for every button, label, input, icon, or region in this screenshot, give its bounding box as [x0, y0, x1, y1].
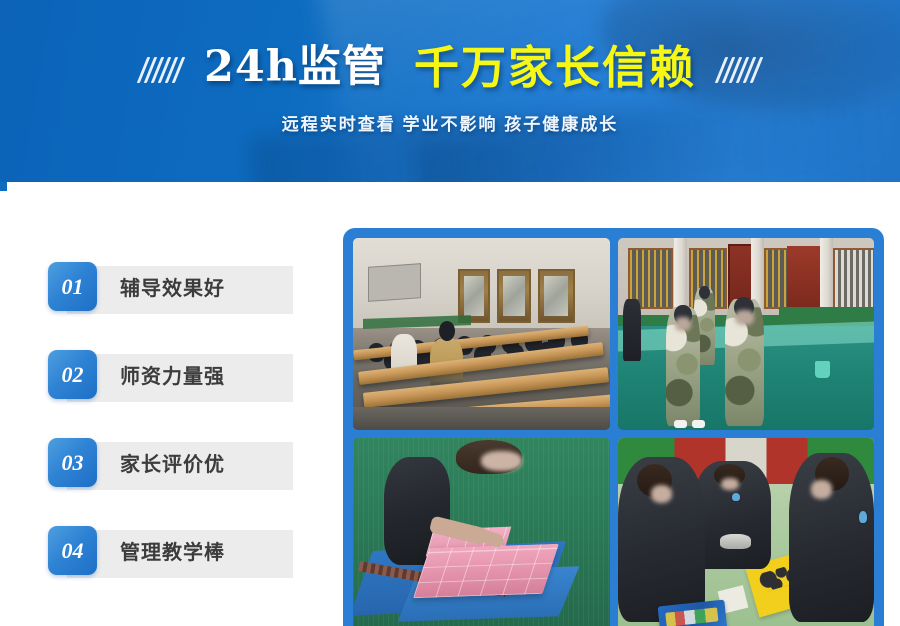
photo-classroom-lecture[interactable] — [353, 238, 610, 430]
feature-number-badge: 02 — [48, 350, 97, 399]
courtyard-staff — [623, 299, 641, 360]
list-item[interactable]: 02 师资力量强 — [48, 350, 293, 406]
quilt-instructor-face-blur — [481, 451, 522, 470]
feature-number-badge: 01 — [48, 262, 97, 311]
list-item[interactable]: 01 辅导效果好 — [48, 262, 293, 318]
promo-page: 24h监管 千万家长信赖 远程实时查看 学业不影响 孩子健康成长 01 辅导效果… — [0, 0, 900, 626]
feature-number: 03 — [62, 450, 84, 476]
photo-floor-puzzle-activity[interactable] — [618, 438, 875, 626]
classroom-floor — [353, 407, 610, 430]
courtyard-kid — [666, 307, 699, 426]
banner-subtitle: 远程实时查看 学业不影响 孩子健康成长 — [0, 110, 900, 135]
banner-divider — [0, 182, 900, 184]
courtyard-kid — [725, 299, 763, 426]
list-item[interactable]: 04 管理教学棒 — [48, 526, 293, 582]
feature-label: 辅导效果好 — [120, 262, 225, 311]
quilt-pink-bedding — [413, 543, 559, 597]
feature-number: 04 — [62, 538, 84, 564]
classroom-window — [538, 269, 575, 323]
feature-number-badge: 03 — [48, 438, 97, 487]
banner-title-row: 24h监管 千万家长信赖 — [0, 36, 900, 98]
classroom-window — [497, 269, 532, 323]
feature-number: 02 — [62, 362, 84, 388]
banner-corner-notch — [0, 182, 7, 191]
header-banner: 24h监管 千万家长信赖 远程实时查看 学业不影响 孩子健康成长 — [0, 0, 900, 182]
slash-decoration-left-icon — [142, 53, 180, 87]
slash-decoration-right-icon — [720, 53, 758, 87]
courtyard-window-grill — [833, 248, 874, 310]
photo-quilt-folding-drill[interactable] — [353, 438, 610, 626]
puzzle-kid — [694, 461, 771, 569]
puzzle-shoe — [720, 534, 751, 549]
feature-list: 01 辅导效果好 02 师资力量强 03 家长评价优 04 管理教学棒 — [48, 262, 293, 614]
photo-courtyard-camo-training[interactable] — [618, 238, 875, 430]
list-item[interactable]: 03 家长评价优 — [48, 438, 293, 494]
courtyard-shoe — [674, 420, 687, 428]
banner-title-primary: 24h监管 — [204, 46, 386, 89]
banner-title-highlight: 千万家长信赖 — [414, 45, 696, 90]
feature-number-badge: 04 — [48, 526, 97, 575]
puzzle-kid — [789, 453, 874, 622]
courtyard-bucket — [815, 361, 830, 378]
feature-label: 师资力量强 — [120, 350, 225, 399]
feature-number: 01 — [62, 274, 84, 300]
classroom-whiteboard — [368, 263, 421, 301]
courtyard-shoe — [692, 420, 705, 428]
feature-label: 家长评价优 — [120, 438, 225, 487]
puzzle-kid — [618, 457, 705, 622]
feature-label: 管理教学棒 — [120, 526, 225, 575]
photo-collage — [343, 228, 884, 626]
